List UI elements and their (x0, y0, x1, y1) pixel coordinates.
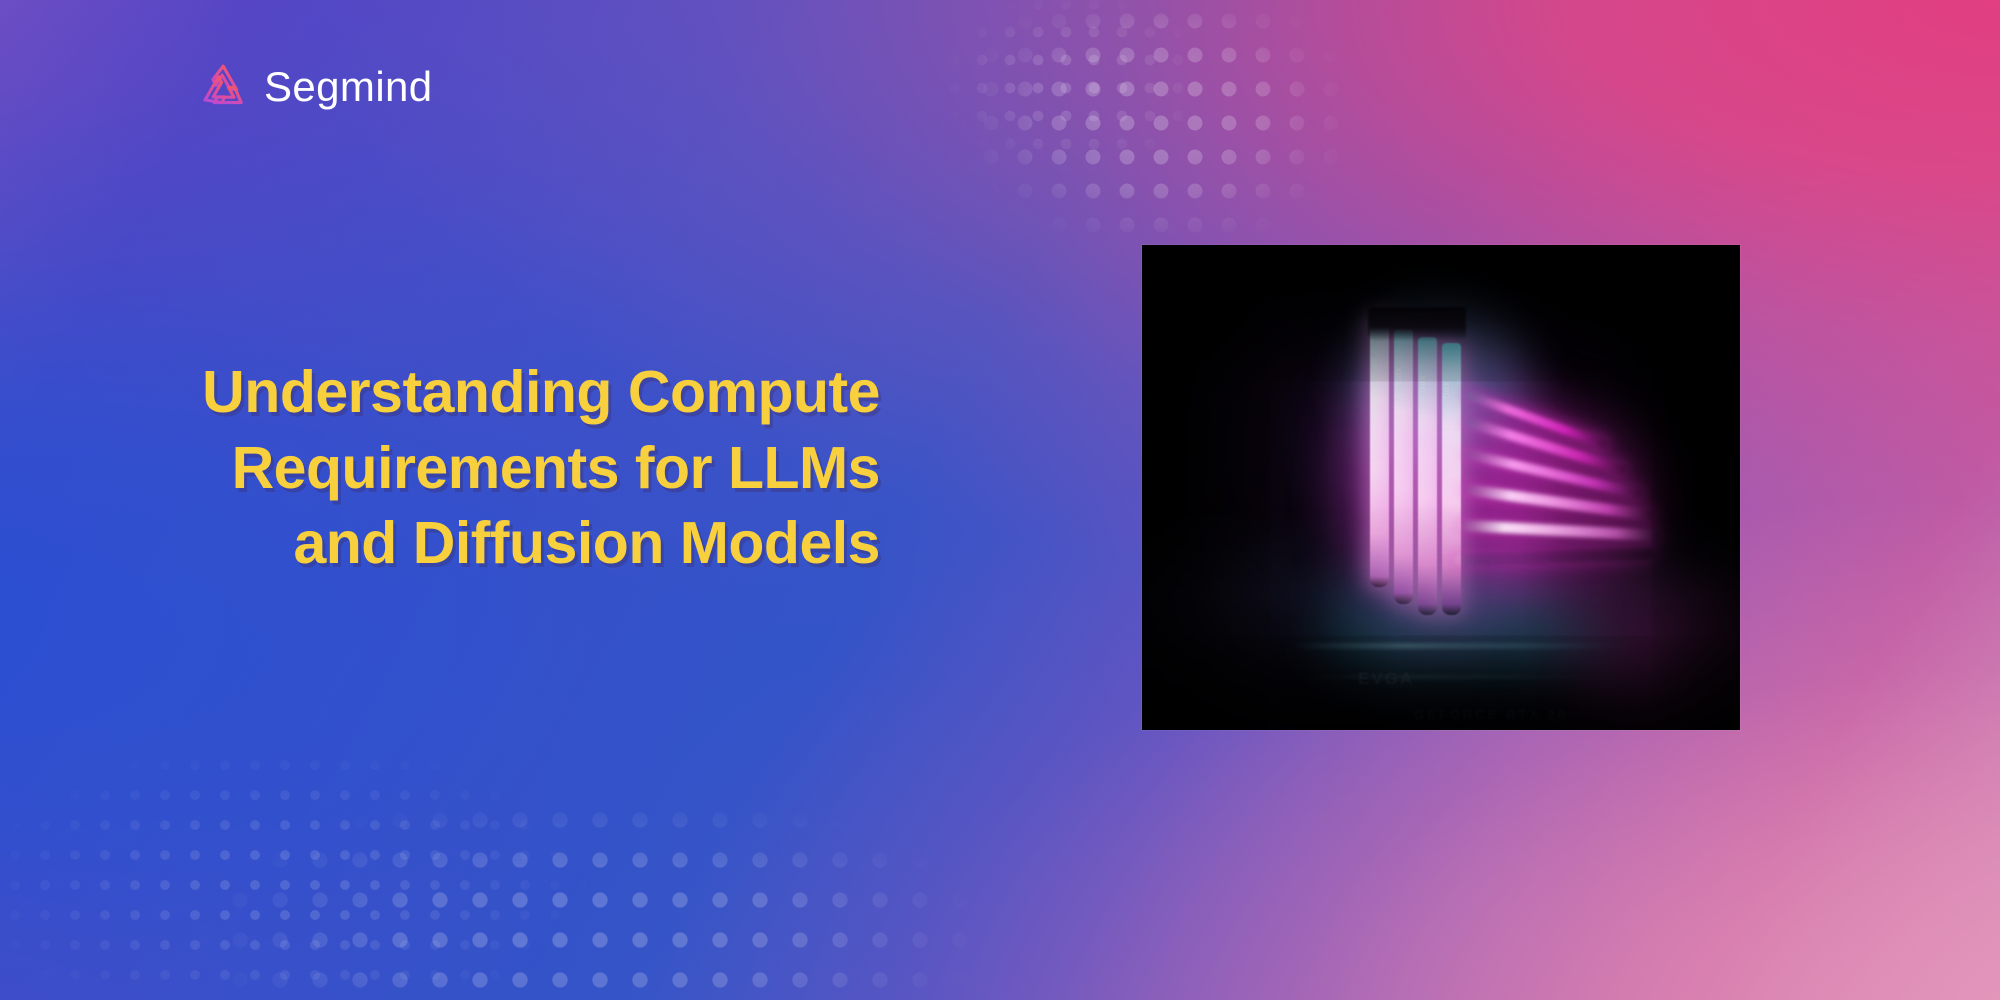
halftone-dots-top-right-inner (940, 0, 1240, 220)
brand-logo[interactable]: Segmind (200, 62, 433, 112)
headline-line-2: Requirements for LLMs (120, 431, 880, 507)
headline: Understanding Compute Requirements for L… (120, 355, 880, 582)
halftone-dots-bottom-left (0, 560, 990, 1000)
promo-banner: Segmind Understanding Compute Requiremen… (0, 0, 2000, 1000)
hero-photo: XPG XPG XPG XPG EVGA GEFORCE RTX 20 (1142, 245, 1740, 730)
headline-line-1: Understanding Compute (120, 355, 880, 431)
halftone-dots-bottom-left-inner (0, 660, 750, 1000)
photo-vignette (1142, 245, 1740, 730)
segmind-triangle-knot-icon (200, 62, 246, 112)
halftone-dots-top-right (940, 0, 1360, 270)
headline-line-3: and Diffusion Models (120, 506, 880, 582)
logo-wordmark: Segmind (264, 66, 433, 108)
